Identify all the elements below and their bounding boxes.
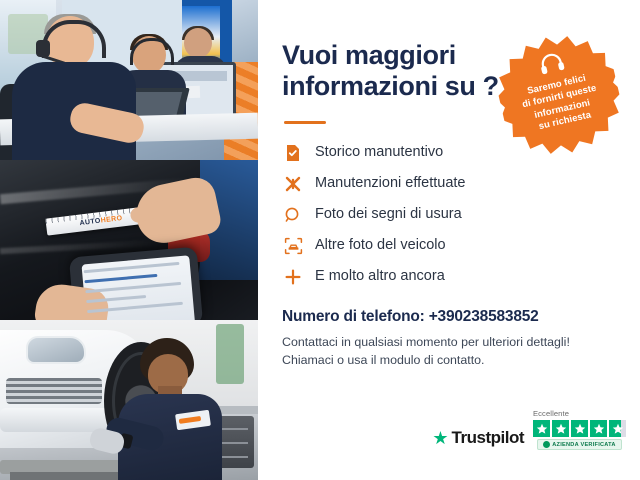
wrench-cross-icon: [282, 173, 304, 195]
list-item-label: Storico manutentivo: [315, 144, 443, 161]
contact-subtext-line-1: Contattaci in qualsiasi momento per ulte…: [282, 335, 570, 349]
autohero-ruler-inspection-photo: AUTOHERO: [0, 160, 258, 320]
call-center-agents-photo: [0, 0, 258, 160]
trustpilot-star-icon: ★: [432, 429, 448, 447]
list-item: E molto altro ancora: [282, 266, 618, 288]
trustpilot-rating: Eccellente AZIENDA VERIFICATA: [533, 409, 626, 450]
headline-line-1: Vuoi maggiori: [282, 40, 456, 70]
star-icon: [552, 420, 569, 437]
trustpilot-wordmark: Trustpilot: [452, 428, 524, 448]
headline-line-2: informazioni su ?: [282, 71, 499, 101]
feature-list: Storico manutentivo Manutenzioni effettu…: [282, 142, 618, 288]
title-divider: [284, 121, 326, 124]
star-rating: [533, 420, 626, 437]
contact-subtext-line-2: Chiamaci o usa il modulo di contatto.: [282, 353, 485, 367]
list-item-label: Foto dei segni di usura: [315, 206, 462, 223]
photo-strip: AUTOHERO: [0, 0, 258, 480]
star-icon: [590, 420, 607, 437]
plus-icon: [282, 266, 304, 288]
trustpilot-logo: ★ Trustpilot: [432, 428, 524, 450]
list-item: Foto dei segni di usura: [282, 204, 618, 226]
phone-number[interactable]: Numero di telefono: +390238583852: [282, 308, 618, 326]
contact-subtext: Contattaci in qualsiasi momento per ulte…: [282, 333, 618, 370]
list-item: Manutenzioni effettuate: [282, 173, 618, 195]
verified-business-badge: AZIENDA VERIFICATA: [537, 439, 621, 450]
list-item: Altre foto del veicolo: [282, 235, 618, 257]
list-item-label: Altre foto del veicolo: [315, 237, 446, 254]
mechanic-person: [118, 338, 222, 480]
headlight-decor: [26, 336, 86, 364]
grille-decor: [6, 378, 102, 404]
list-item-label: E molto altro ancora: [315, 268, 445, 285]
verified-check-icon: [543, 441, 550, 448]
rating-label: Eccellente: [533, 409, 569, 418]
car-scan-icon: [282, 235, 304, 257]
agent-one: [16, 16, 124, 160]
document-check-icon: [282, 142, 304, 164]
star-icon: [571, 420, 588, 437]
star-icon-partial: [609, 420, 626, 437]
magnifier-icon: [282, 204, 304, 226]
verified-label: AZIENDA VERIFICATA: [552, 442, 615, 448]
list-item-label: Manutenzioni effettuate: [315, 175, 465, 192]
mechanic-wheel-inspection-photo: [0, 320, 258, 480]
autohero-info-banner: AUTOHERO: [0, 0, 640, 480]
tablet-screen-lines: [84, 262, 185, 320]
lift-base-decor: [10, 472, 130, 480]
star-icon: [533, 420, 550, 437]
trustpilot-widget[interactable]: ★ Trustpilot Eccellente AZIENDA VERIFICA…: [432, 409, 626, 450]
